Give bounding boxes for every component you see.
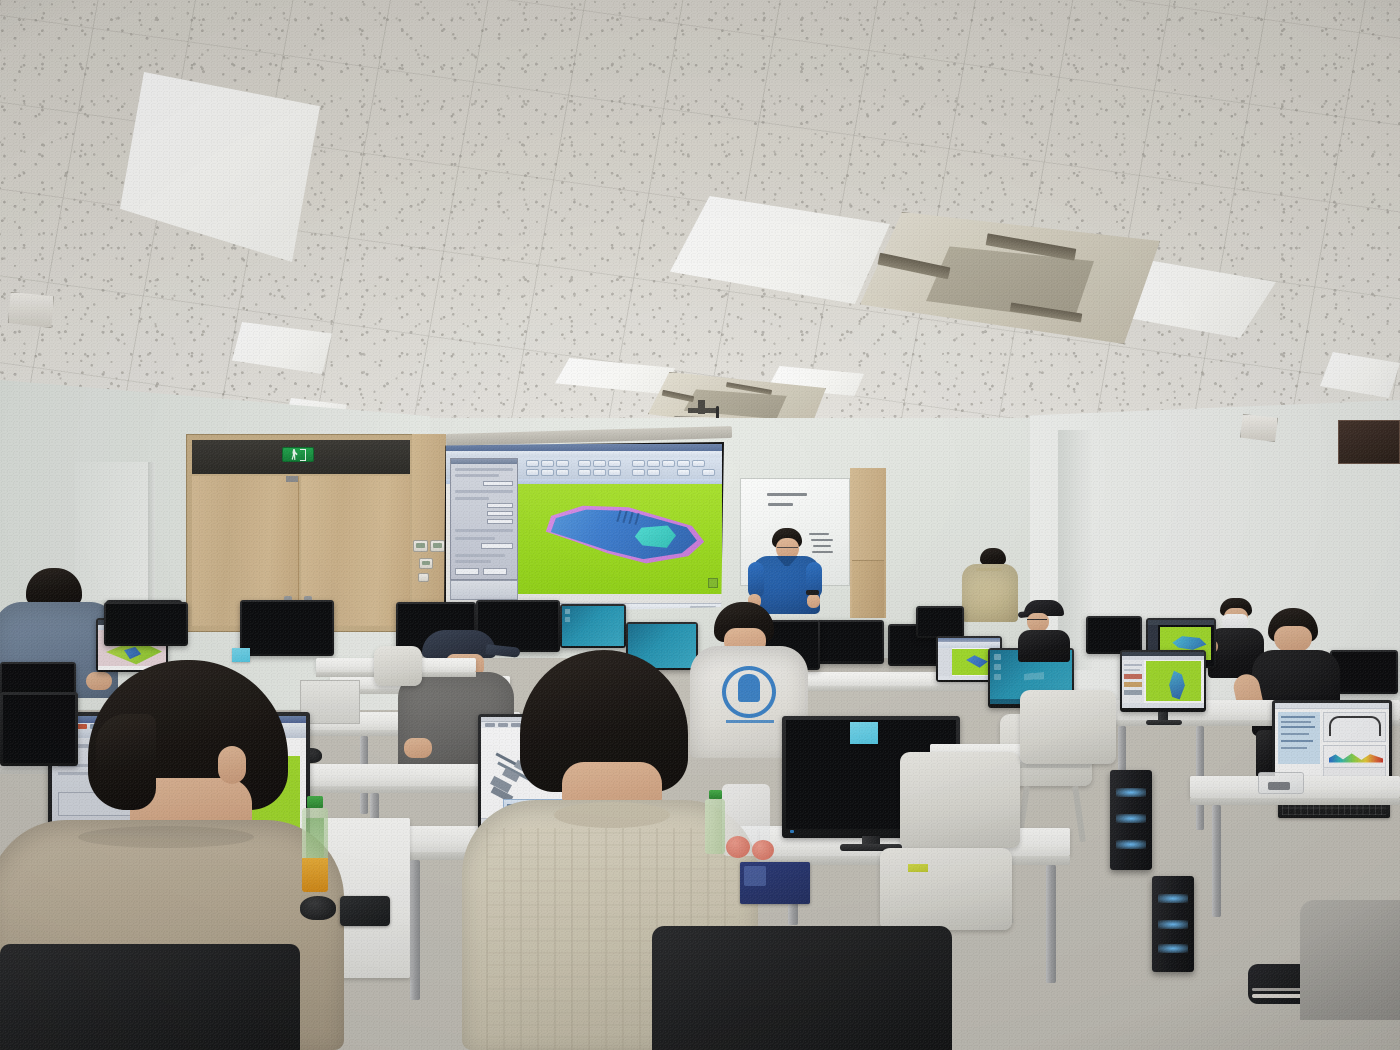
student-black-cap-glasses-icon [1027,619,1047,622]
document-diagram [1329,716,1381,736]
rear-wood-panel [852,560,884,618]
bottle-cap [307,796,323,808]
wall-speaker-left [8,292,54,328]
ceiling [0,0,1400,450]
monitor-left-3[interactable] [240,600,334,656]
monitor-left-6[interactable] [560,604,626,648]
projected-cad-dialog[interactable] [450,458,518,580]
student-blue-gray-hair [26,568,82,606]
whiteboard-note-line [768,503,793,506]
pc-tower-right-1 [1110,770,1152,870]
monitor-rear-4[interactable] [1086,616,1142,654]
chair-right-foreground[interactable] [1020,690,1116,764]
student-beige-ear [218,746,246,784]
staff-hair [980,548,1006,565]
projected-cad-titlebar [446,444,722,451]
fruit [726,836,750,858]
outlet-plate[interactable] [418,573,429,582]
hvac-controller[interactable] [413,540,428,552]
student-black-cap [1018,600,1072,662]
projected-cad-viewport [518,484,724,594]
instructor-watch [806,590,819,595]
instructor-arm-left [748,562,764,598]
wall-speaker-right [1240,414,1278,442]
ceiling-cassette-ac-right [860,212,1160,344]
whiteboard-note-line [767,493,807,496]
green-tea-bottle [300,796,330,894]
fruit [752,840,774,860]
right-wall-panel [1338,420,1400,464]
asset-tag-chair [908,864,928,872]
chair-back-foreground-center[interactable] [652,926,952,1050]
chair-left-mid[interactable] [374,646,422,686]
trouser-leg [1300,900,1400,1020]
student-gray-cap-hand [404,738,432,758]
smartphone[interactable] [340,896,390,926]
thermostat-panel[interactable] [419,558,433,569]
staff-shirt [962,564,1018,622]
instructor-glasses-icon [777,547,798,551]
monitor-left-2[interactable] [104,602,188,646]
bottle-contents [302,858,328,892]
door-side-column [412,434,446,630]
pc-tower-right-2 [1152,876,1194,972]
projection-screen-assembly [442,440,730,618]
monitor-power-led [790,830,794,833]
classroom-photo [0,0,1400,1050]
monitor-rear-3[interactable] [916,606,964,638]
student-black-cap-shirt [1018,630,1070,662]
projected-cad-tree-panel[interactable] [450,580,518,600]
staff-khaki [962,548,1020,626]
left-wall-panel-edge [148,462,155,602]
juice-bottle [704,790,726,854]
windows-logo-icon [1024,672,1044,688]
projected-viewcube-icon[interactable] [708,578,718,588]
chair-back-foreground-left[interactable] [0,944,300,1050]
chair-center-front[interactable] [900,752,1020,848]
exit-sign [282,447,314,462]
chair-center-near[interactable] [880,848,1012,930]
projection-screen-surface [444,442,724,614]
door-closer [286,476,298,482]
sticky-note-center [850,722,878,744]
monitor-cad-analysis-lower[interactable] [1120,650,1206,712]
mouse-foreground-left[interactable] [300,896,336,920]
monitor-rear-1[interactable] [816,620,884,664]
